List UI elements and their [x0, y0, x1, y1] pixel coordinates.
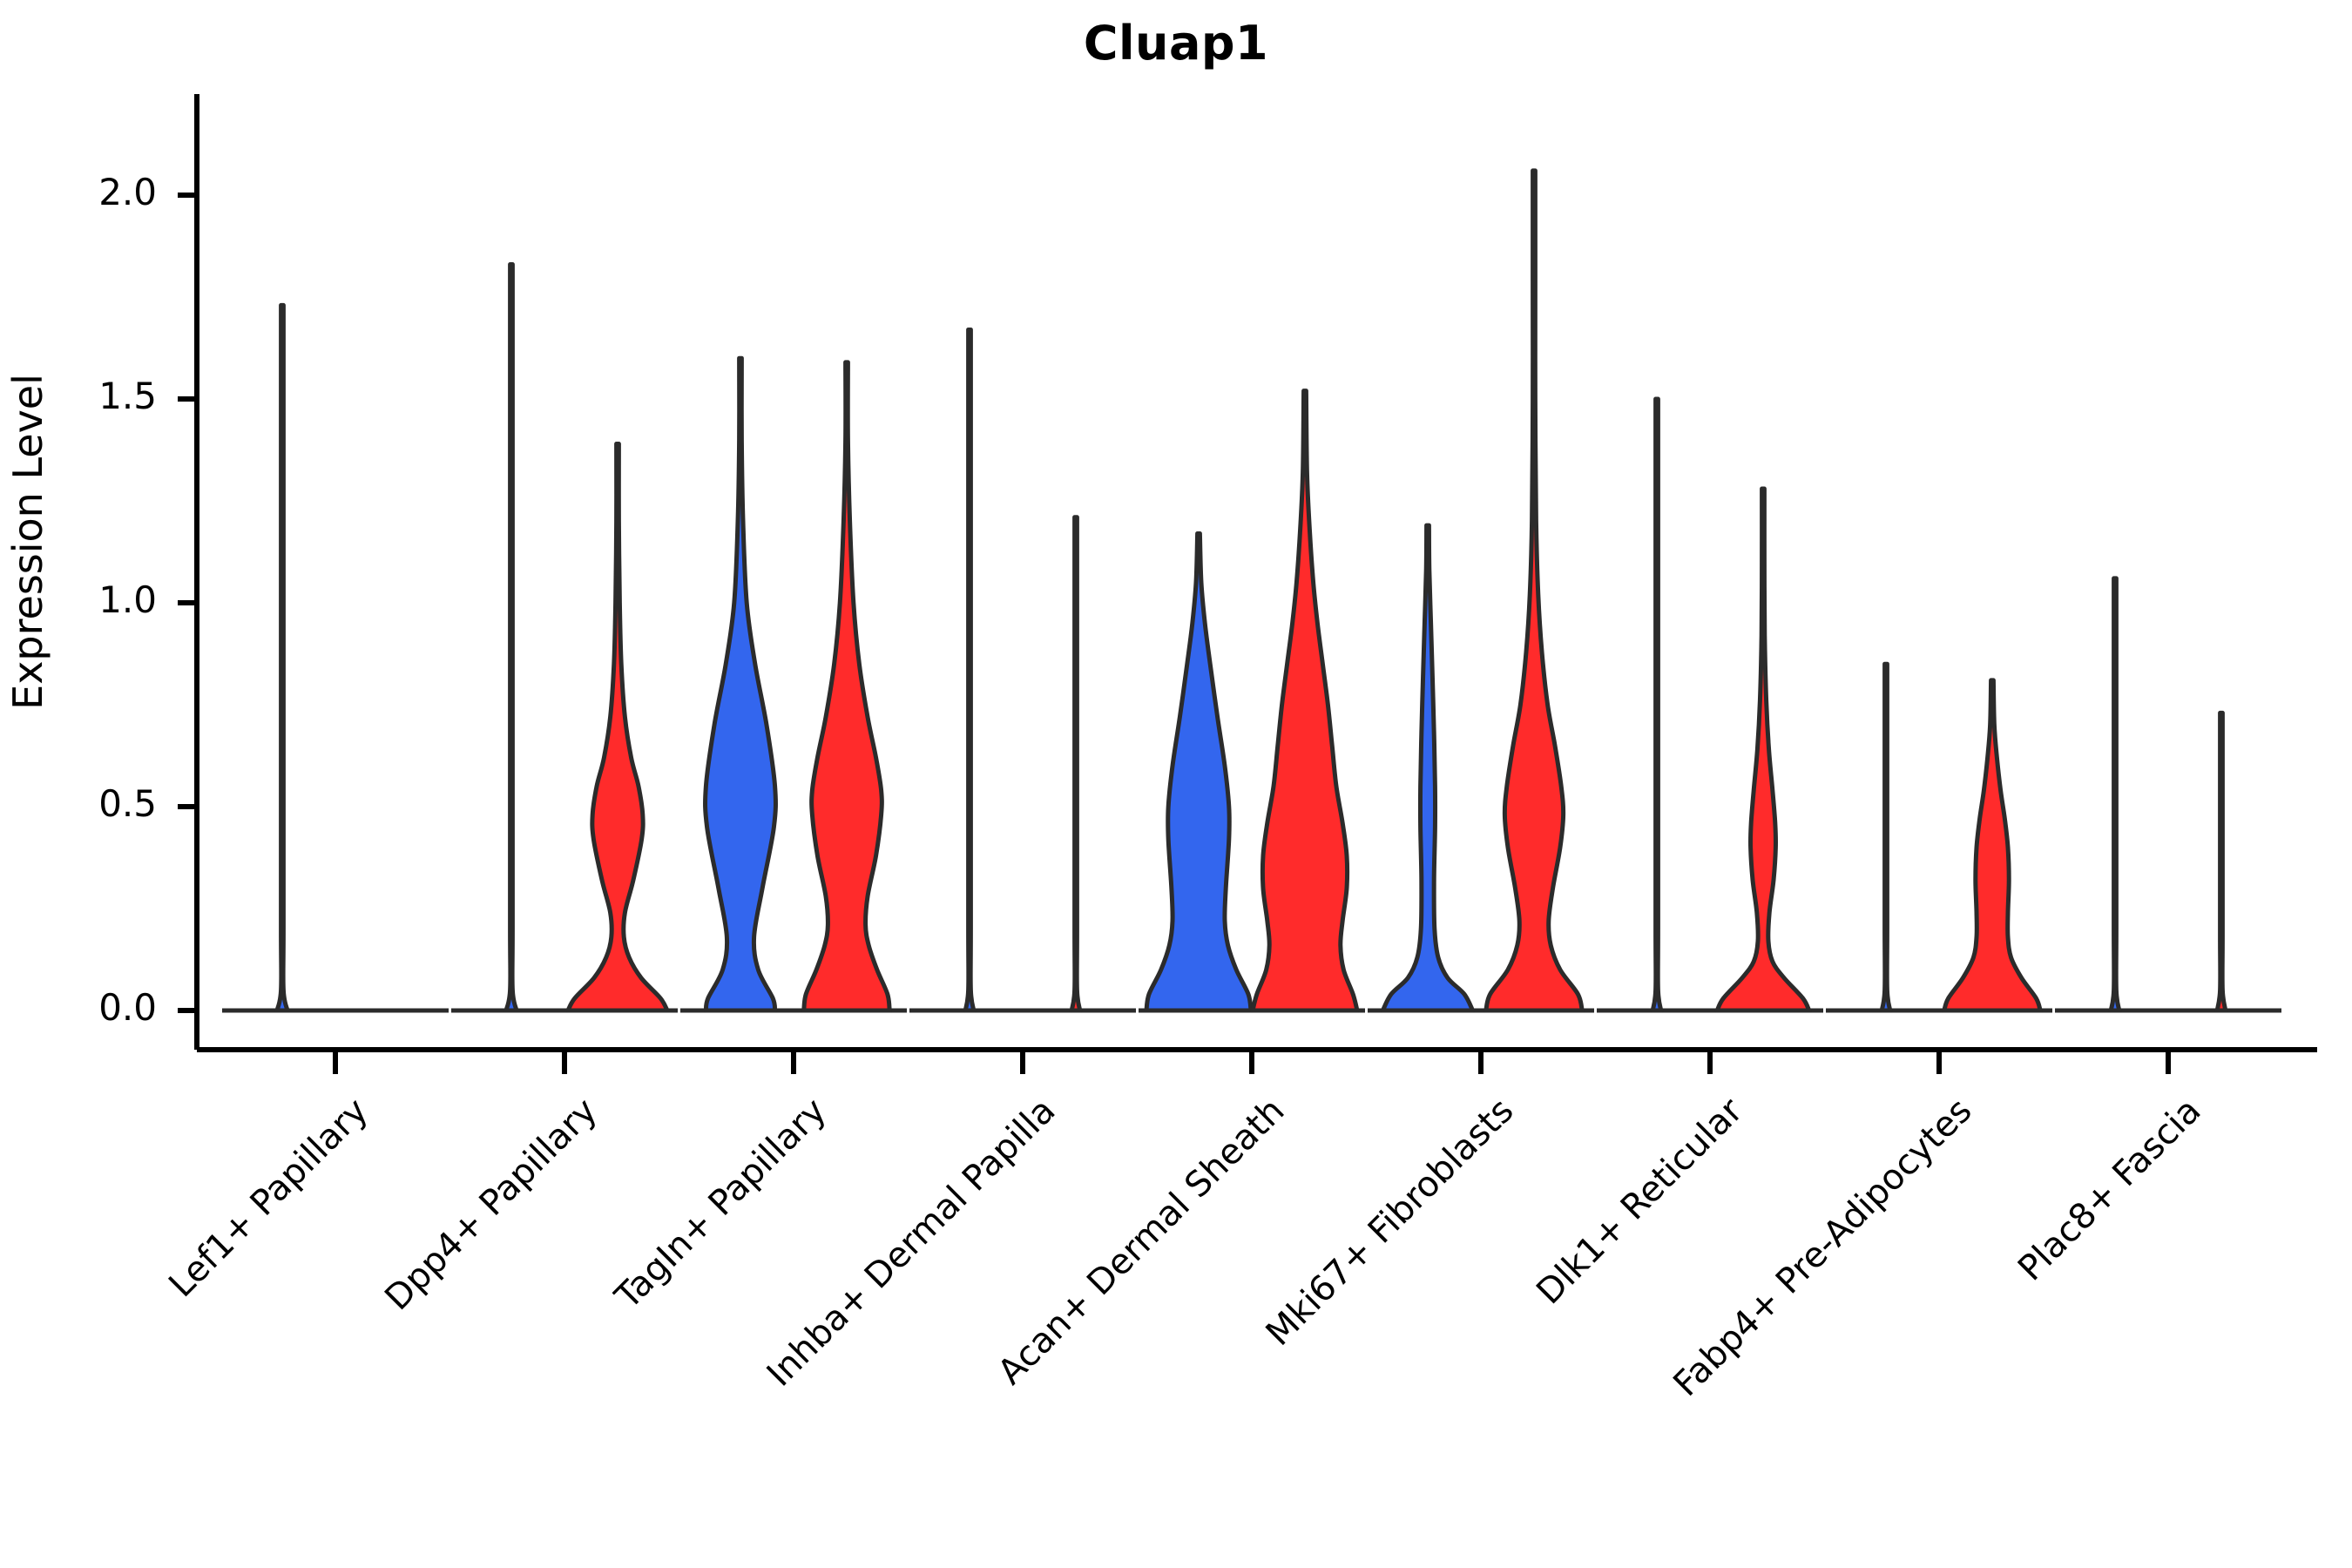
violin-group_a-2: [706, 358, 776, 1010]
violin-group_b-6: [1717, 489, 1809, 1010]
violin-group_a-6: [1652, 399, 1661, 1010]
violin-group_a-4: [1146, 533, 1251, 1010]
y-tick-label: 2.0: [35, 171, 157, 213]
violin-group_b-3: [1071, 517, 1080, 1010]
violin-group_b-2: [804, 362, 889, 1010]
violins-layer: [222, 171, 2281, 1010]
violin-group_a-0: [277, 305, 287, 1010]
violin-group_b-5: [1486, 171, 1582, 1010]
violin-group_a-3: [965, 329, 974, 1010]
y-tick-label: 0.5: [35, 782, 157, 825]
violin-group_a-1: [506, 265, 517, 1010]
violin-group_a-7: [1882, 664, 1890, 1010]
violin-group_b-1: [568, 443, 667, 1010]
violin-group_a-8: [2111, 578, 2119, 1010]
violin-group_b-4: [1253, 391, 1357, 1010]
y-tick-label: 0.0: [35, 986, 157, 1029]
violin-plot-figure: Cluap1 Expression Level 2.01.51.00.50.0 …: [0, 0, 2352, 1568]
violin-group_b-8: [2217, 713, 2226, 1010]
y-tick-label: 1.0: [35, 578, 157, 621]
violin-group_a-5: [1382, 525, 1472, 1010]
y-tick-label: 1.5: [35, 375, 157, 417]
violin-group_b-7: [1944, 680, 2040, 1010]
